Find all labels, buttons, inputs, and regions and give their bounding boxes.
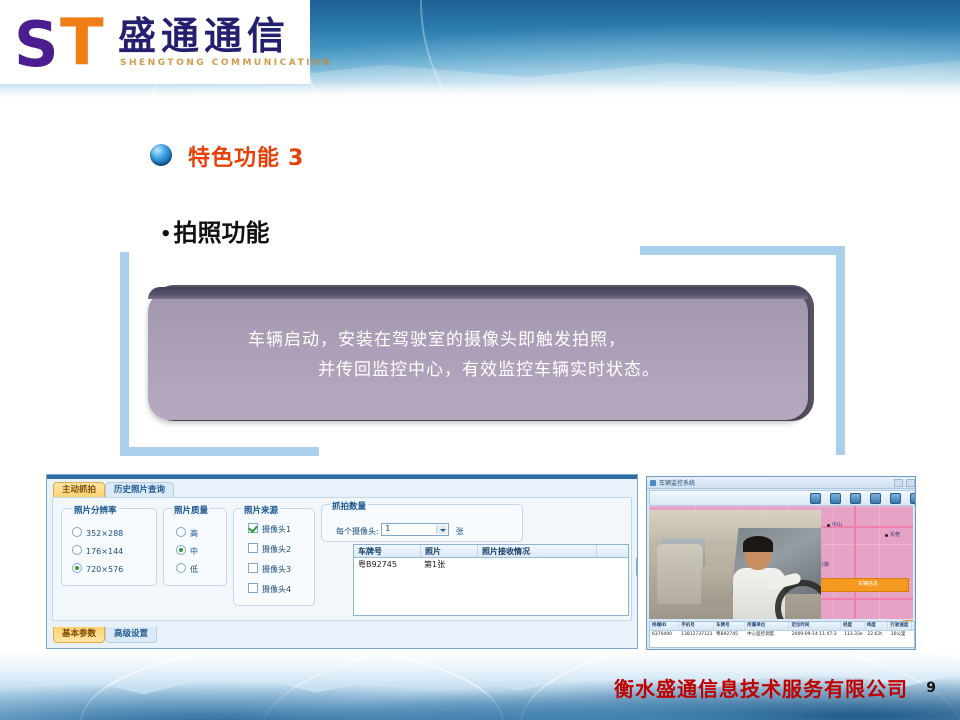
tab-basic-parameters[interactable]: 基本参数 — [53, 627, 105, 643]
map-point-icon — [827, 524, 830, 527]
cell-plate-number: 粤B92745 — [354, 558, 420, 570]
radio-icon — [72, 545, 82, 555]
radio-res-352x288-label: 352×288 — [86, 529, 123, 538]
group-resolution-title: 照片分辨率 — [72, 502, 119, 516]
toolbar-icon-group — [810, 493, 916, 504]
group-photo-source: 照片来源 摄像头1 摄像头2 摄像头3 摄像头4 — [233, 508, 315, 606]
logo-letter-t: T — [60, 14, 104, 72]
section-title-text: 特色功能 — [188, 146, 280, 171]
column-plate: 车牌号 — [714, 622, 745, 630]
checkbox-camera-3[interactable]: 摄像头3 — [248, 563, 291, 575]
minimize-icon[interactable] — [894, 479, 903, 487]
column-receive-status: 照片接收情况 — [478, 545, 597, 557]
map-point-a-label: 中山 — [832, 521, 842, 528]
radio-quality-high[interactable]: 高 — [176, 527, 198, 539]
capture-result-table[interactable]: 车牌号 照片 照片接收情况 粤B92745 第1张 — [353, 544, 629, 616]
radio-quality-low-label: 低 — [190, 565, 198, 574]
map-road — [854, 506, 856, 619]
callout-line-2: 并传回监控中心，有效监控车辆实时状态。 — [148, 355, 808, 385]
monitor-toolbar — [649, 490, 915, 506]
footer-company-name: 衡水盛通信息技术服务有限公司 — [614, 673, 908, 702]
group-resolution: 照片分辨率 352×288 176×144 720×576 — [61, 508, 157, 586]
vehicle-icon[interactable] — [810, 493, 821, 504]
app-bottom-tabs: 基本参数 高级设置 — [53, 627, 157, 643]
cell-plate: 粤B92745 — [714, 631, 745, 639]
column-status: 状态 — [912, 622, 914, 630]
capture-button[interactable]: 抓拍 — [636, 557, 638, 577]
checkbox-camera-2-label: 摄像头2 — [262, 545, 291, 554]
column-longitude: 经度 — [841, 622, 865, 630]
radio-res-352x288[interactable]: 352×288 — [72, 527, 123, 538]
cell-photo: 第1张 — [420, 558, 476, 570]
column-phone: 手机号 — [679, 622, 714, 630]
slide-root: S T 盛通通信 SHENGTONG COMMUNICATION 特色功能3 •… — [0, 0, 960, 720]
map-point-icon — [885, 534, 888, 537]
close-icon[interactable] — [906, 479, 915, 487]
bullet-dot-icon: • — [160, 224, 172, 245]
page-number: 9 — [926, 680, 936, 696]
cell-time: 2009-09-14 11:47:3 — [790, 631, 842, 639]
column-plate-number: 车牌号 — [354, 545, 421, 557]
logo-letter-s: S — [14, 16, 55, 74]
radio-res-720x576[interactable]: 720×576 — [72, 563, 123, 574]
sphere-bullet-icon — [150, 144, 172, 166]
column-unit: 所属单位 — [745, 622, 789, 630]
feature-bullet-label: 拍照功能 — [174, 219, 270, 247]
tab-active-capture[interactable]: 主动抓拍 — [53, 482, 105, 498]
group-quality-title: 照片质量 — [172, 502, 210, 516]
cell-latitude: 22.62t — [865, 631, 888, 639]
group-capture-count: 抓拍数量 每个摄像头: 1 张 — [321, 504, 523, 542]
checkbox-icon — [248, 583, 258, 593]
cell-longitude: 113.33e — [842, 631, 865, 639]
feature-bullet: •拍照功能 — [160, 213, 270, 248]
monitor-table-header: 终端ID 手机号 车牌号 所属单位 定位时间 经度 纬度 行驶速度 状态 — [650, 622, 914, 631]
group-capture-count-title: 抓拍数量 — [330, 498, 368, 512]
chevron-down-icon[interactable] — [436, 525, 447, 534]
radio-res-176x144[interactable]: 176×144 — [72, 545, 123, 556]
section-number: 3 — [288, 146, 304, 171]
monitor-data-table[interactable]: 终端ID 手机号 车牌号 所属单位 定位时间 经度 纬度 行驶速度 状态 637… — [649, 621, 915, 648]
slide-header: S T 盛通通信 SHENGTONG COMMUNICATION — [0, 0, 960, 104]
zoom-icon[interactable] — [890, 493, 901, 504]
app-top-tabs: 主动抓拍 历史照片查询 — [53, 482, 174, 498]
radio-icon-selected — [176, 545, 186, 555]
app-title-strip — [47, 475, 637, 479]
monitor-window-title: 车辆监控系统 — [659, 478, 695, 487]
cell-speed: 30公里 — [889, 631, 912, 639]
photo-seat — [701, 566, 731, 606]
capture-count-value: 1 — [385, 524, 390, 533]
checkbox-camera-4[interactable]: 摄像头4 — [248, 583, 291, 595]
capture-count-select[interactable]: 1 — [381, 523, 449, 536]
tab-history-photos[interactable]: 历史照片查询 — [105, 482, 174, 498]
column-time: 定位时间 — [789, 622, 841, 630]
column-speed: 行驶速度 — [888, 622, 912, 630]
radio-icon — [176, 563, 186, 573]
table-header-row: 车牌号 照片 照片接收情况 — [354, 545, 628, 558]
tab-advanced-settings[interactable]: 高级设置 — [105, 627, 157, 643]
monitor-map-canvas[interactable]: 中山 东莞 广深高速公路 广州市 车辆信息 — [649, 506, 913, 619]
track-icon[interactable] — [830, 493, 841, 504]
cell-phone: 13812737121 — [679, 631, 714, 639]
radio-icon-selected — [72, 563, 82, 573]
map-point-b-label: 东莞 — [890, 531, 900, 538]
cell-status: 行 — [912, 631, 914, 639]
photo-icon[interactable] — [870, 493, 881, 504]
checkbox-icon — [248, 543, 258, 553]
header-fade — [0, 82, 960, 104]
monitor-window: 车辆监控系统 中山 东莞 广深高速公 — [646, 476, 916, 650]
radio-quality-low[interactable]: 低 — [176, 563, 198, 575]
checkbox-camera-4-label: 摄像头4 — [262, 585, 291, 594]
monitor-table-row[interactable]: 6370400 13812737121 粤B92745 中心监控调度 2009-… — [650, 631, 914, 639]
cell-unit: 中心监控调度 — [745, 631, 790, 639]
group-quality: 照片质量 高 中 低 — [163, 508, 227, 586]
radio-res-720x576-label: 720×576 — [86, 565, 123, 574]
radio-quality-medium-label: 中 — [190, 547, 198, 556]
radio-icon — [176, 527, 186, 537]
window-controls — [894, 479, 915, 487]
checkbox-icon — [248, 563, 258, 573]
window-app-icon — [650, 480, 656, 486]
column-latitude: 纬度 — [865, 622, 889, 630]
checkbox-camera-1-label: 摄像头1 — [262, 525, 291, 534]
cell-terminal-id: 6370400 — [650, 631, 679, 639]
capture-count-row: 每个摄像头: 1 张 — [336, 523, 464, 537]
app-body: 照片分辨率 352×288 176×144 720×576 照片质量 高 中 低… — [52, 497, 632, 621]
alarm-icon[interactable] — [850, 493, 861, 504]
radio-res-176x144-label: 176×144 — [86, 547, 123, 556]
capture-app-window: 主动抓拍 历史照片查询 照片分辨率 352×288 176×144 720×57… — [46, 474, 638, 649]
callout-line-1: 车辆启动，安装在驾驶室的摄像头即触发拍照， — [148, 325, 808, 355]
radio-quality-high-label: 高 — [190, 529, 198, 538]
checkbox-icon-checked — [248, 523, 258, 533]
cell-receive-status — [476, 558, 594, 570]
capture-count-unit: 张 — [456, 527, 464, 536]
column-spacer — [597, 545, 628, 557]
company-name-cn: 盛通通信 — [118, 14, 290, 58]
radio-icon — [72, 527, 82, 537]
st-logo: S T — [14, 12, 134, 74]
captured-photo — [649, 510, 821, 619]
back-icon[interactable] — [910, 493, 916, 504]
capture-count-label: 每个摄像头: — [336, 527, 379, 536]
radio-quality-medium[interactable]: 中 — [176, 545, 198, 557]
checkbox-camera-3-label: 摄像头3 — [262, 565, 291, 574]
column-terminal-id: 终端ID — [650, 622, 679, 630]
checkbox-camera-2[interactable]: 摄像头2 — [248, 543, 291, 555]
column-photo: 照片 — [421, 545, 478, 557]
checkbox-camera-1[interactable]: 摄像头1 — [248, 523, 291, 535]
group-photo-source-title: 照片来源 — [242, 502, 280, 516]
table-row[interactable]: 粤B92745 第1张 — [354, 558, 628, 570]
company-name-en: SHENGTONG COMMUNICATION — [120, 58, 332, 68]
photo-driver-hair — [743, 536, 773, 552]
callout-text: 车辆启动，安装在驾驶室的摄像头即触发拍照， 并传回监控中心，有效监控车辆实时状态… — [148, 290, 808, 420]
page-title: 特色功能3 — [188, 140, 304, 172]
monitor-title-bar: 车辆监控系统 — [647, 477, 916, 489]
photo-seat — [657, 544, 703, 604]
